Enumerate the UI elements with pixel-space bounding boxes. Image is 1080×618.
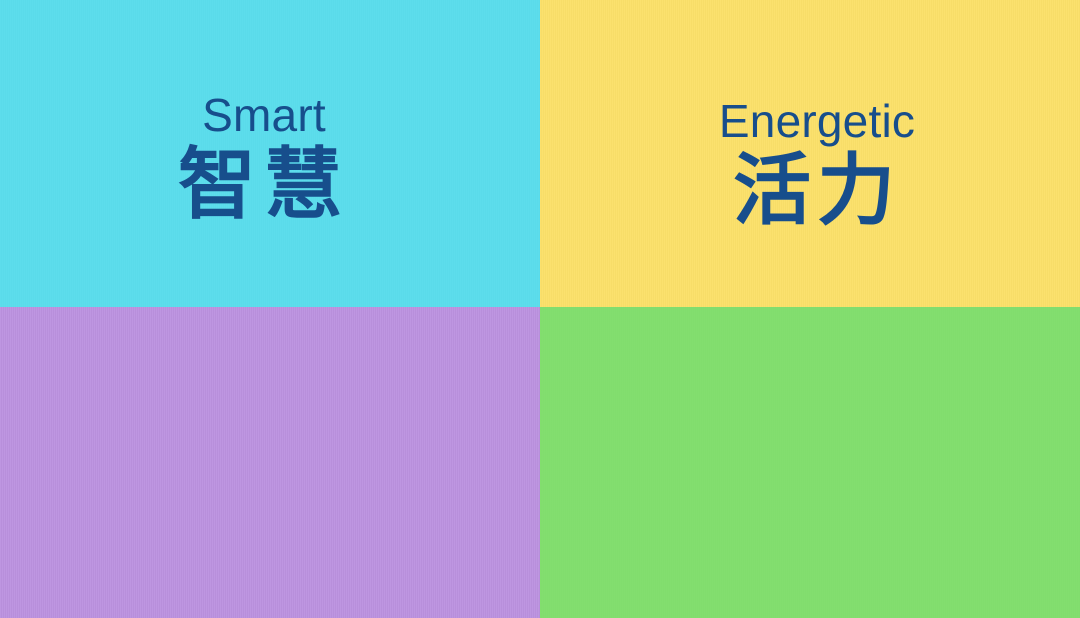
label-stack-smart: Smart 智慧 — [178, 92, 350, 226]
label-en-smart: Smart — [202, 92, 326, 139]
label-en-energetic: Energetic — [719, 98, 915, 145]
quadrant-energetic: Energetic 活力 — [540, 0, 1080, 307]
label-zh-smart: 智慧 — [178, 143, 350, 226]
label-zh-energetic: 活力 — [733, 149, 901, 232]
quadrant-sustainable: Sustainable 永續 — [540, 307, 1080, 618]
quadrant-innovative: Innovative 創新 — [0, 307, 540, 618]
label-stack-energetic: Energetic 活力 — [719, 98, 915, 232]
quadrant-smart: Smart 智慧 — [0, 0, 540, 307]
brand-values-quadrant-board: Smart 智慧 Energetic 活力 Innovative 創新 Sust… — [0, 0, 1080, 618]
